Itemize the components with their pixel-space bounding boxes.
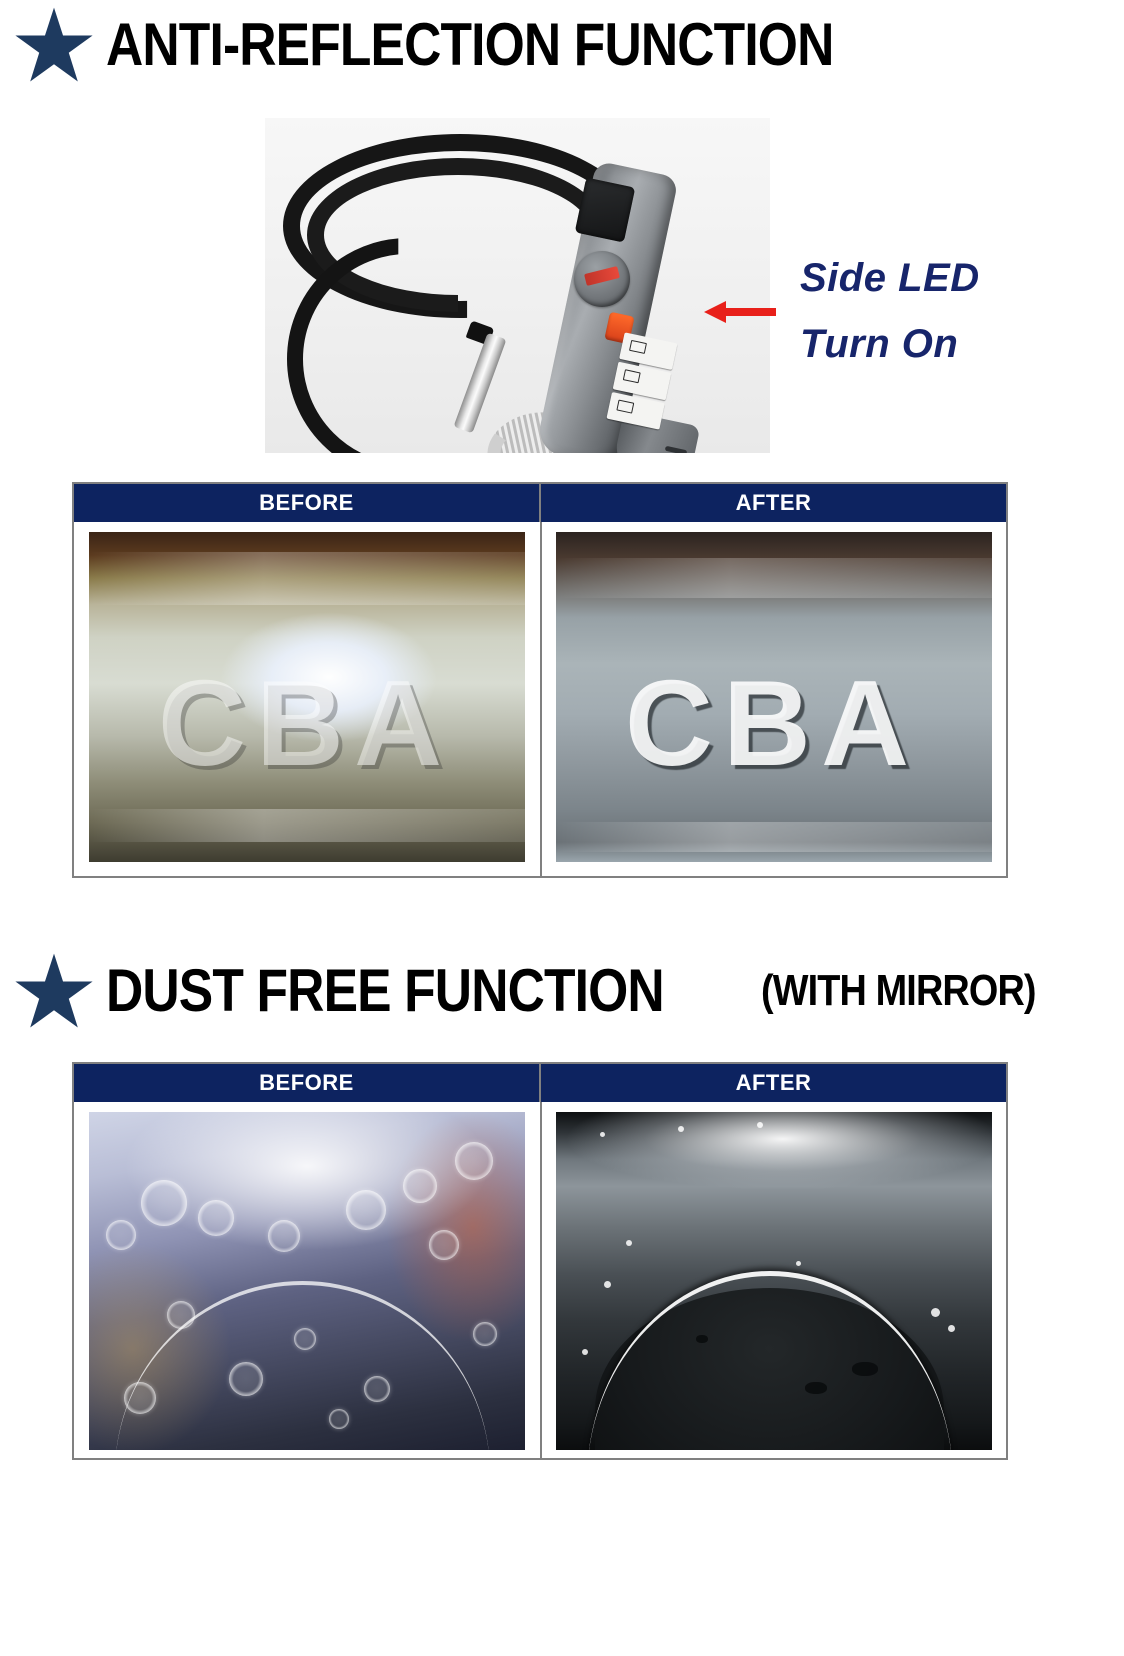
device-photo xyxy=(265,118,770,453)
dust-particle xyxy=(364,1376,390,1402)
sample-image-before-dust xyxy=(89,1112,525,1450)
star-icon xyxy=(8,952,100,1030)
surface-blemish xyxy=(805,1382,827,1394)
dust-particle xyxy=(106,1220,136,1250)
metal-streak xyxy=(556,558,992,598)
speck xyxy=(626,1240,632,1246)
callout-turn-on: Turn On xyxy=(800,322,958,367)
heading-text-anti-reflection: ANTI-REFLECTION FUNCTION xyxy=(106,15,833,75)
metal-streak xyxy=(89,809,525,842)
metal-streak xyxy=(556,822,992,852)
cell-after-dust-free xyxy=(540,1102,1006,1458)
speck xyxy=(582,1349,588,1355)
section-heading-anti-reflection: ANTI-REFLECTION FUNCTION xyxy=(8,6,952,84)
surface-blemish xyxy=(852,1362,878,1376)
dust-particle xyxy=(141,1180,187,1226)
dust-particle xyxy=(473,1322,497,1346)
section-heading-dust-free: DUST FREE FUNCTION (WITH MIRROR) xyxy=(8,952,1080,1030)
comparison-body-row xyxy=(74,1102,1006,1458)
metal-streak xyxy=(89,552,525,605)
sample-image-after-clear: CBA xyxy=(556,532,992,862)
cell-after-anti-reflection: CBA xyxy=(540,522,1006,876)
column-header-after: AFTER xyxy=(539,484,1006,522)
speck xyxy=(604,1281,611,1288)
left-arrow-icon xyxy=(704,300,776,324)
stamped-letters-after: CBA xyxy=(556,664,992,786)
heading-text-dust-free-suffix: (WITH MIRROR) xyxy=(761,969,1036,1013)
star-icon xyxy=(8,6,100,84)
speck xyxy=(931,1308,940,1317)
heading-text-dust-free: DUST FREE FUNCTION xyxy=(106,961,664,1021)
speck xyxy=(678,1126,684,1132)
comparison-body-row: CBA CBA xyxy=(74,522,1006,876)
stamped-letters-before: CBA xyxy=(89,664,525,786)
cavity-rim-after xyxy=(587,1271,953,1450)
dust-particle xyxy=(429,1230,459,1260)
comparison-header-row: BEFORE AFTER xyxy=(74,484,1006,522)
speck xyxy=(757,1122,763,1128)
cell-before-anti-reflection: CBA xyxy=(74,522,540,876)
speck xyxy=(796,1261,801,1266)
column-header-before: BEFORE xyxy=(74,1064,539,1102)
surface-blemish xyxy=(696,1335,708,1343)
sample-image-after-clean xyxy=(556,1112,992,1450)
speck xyxy=(600,1132,605,1137)
cell-before-dust-free xyxy=(74,1102,540,1458)
comparison-table-anti-reflection: BEFORE AFTER CBA CBA xyxy=(72,482,1008,878)
dust-particle xyxy=(403,1169,437,1203)
dust-particle xyxy=(346,1190,386,1230)
probe-tip xyxy=(454,333,507,434)
column-header-before: BEFORE xyxy=(74,484,539,522)
callout-side-led: Side LED xyxy=(800,256,980,301)
dust-particle xyxy=(229,1362,263,1396)
comparison-header-row: BEFORE AFTER xyxy=(74,1064,1006,1102)
column-header-after: AFTER xyxy=(539,1064,1006,1102)
speck xyxy=(948,1325,955,1332)
dust-particle xyxy=(268,1220,300,1252)
dust-particle xyxy=(455,1142,493,1180)
dust-particle xyxy=(198,1200,234,1236)
comparison-table-dust-free: BEFORE AFTER xyxy=(72,1062,1008,1460)
sample-image-before-glare: CBA xyxy=(89,532,525,862)
